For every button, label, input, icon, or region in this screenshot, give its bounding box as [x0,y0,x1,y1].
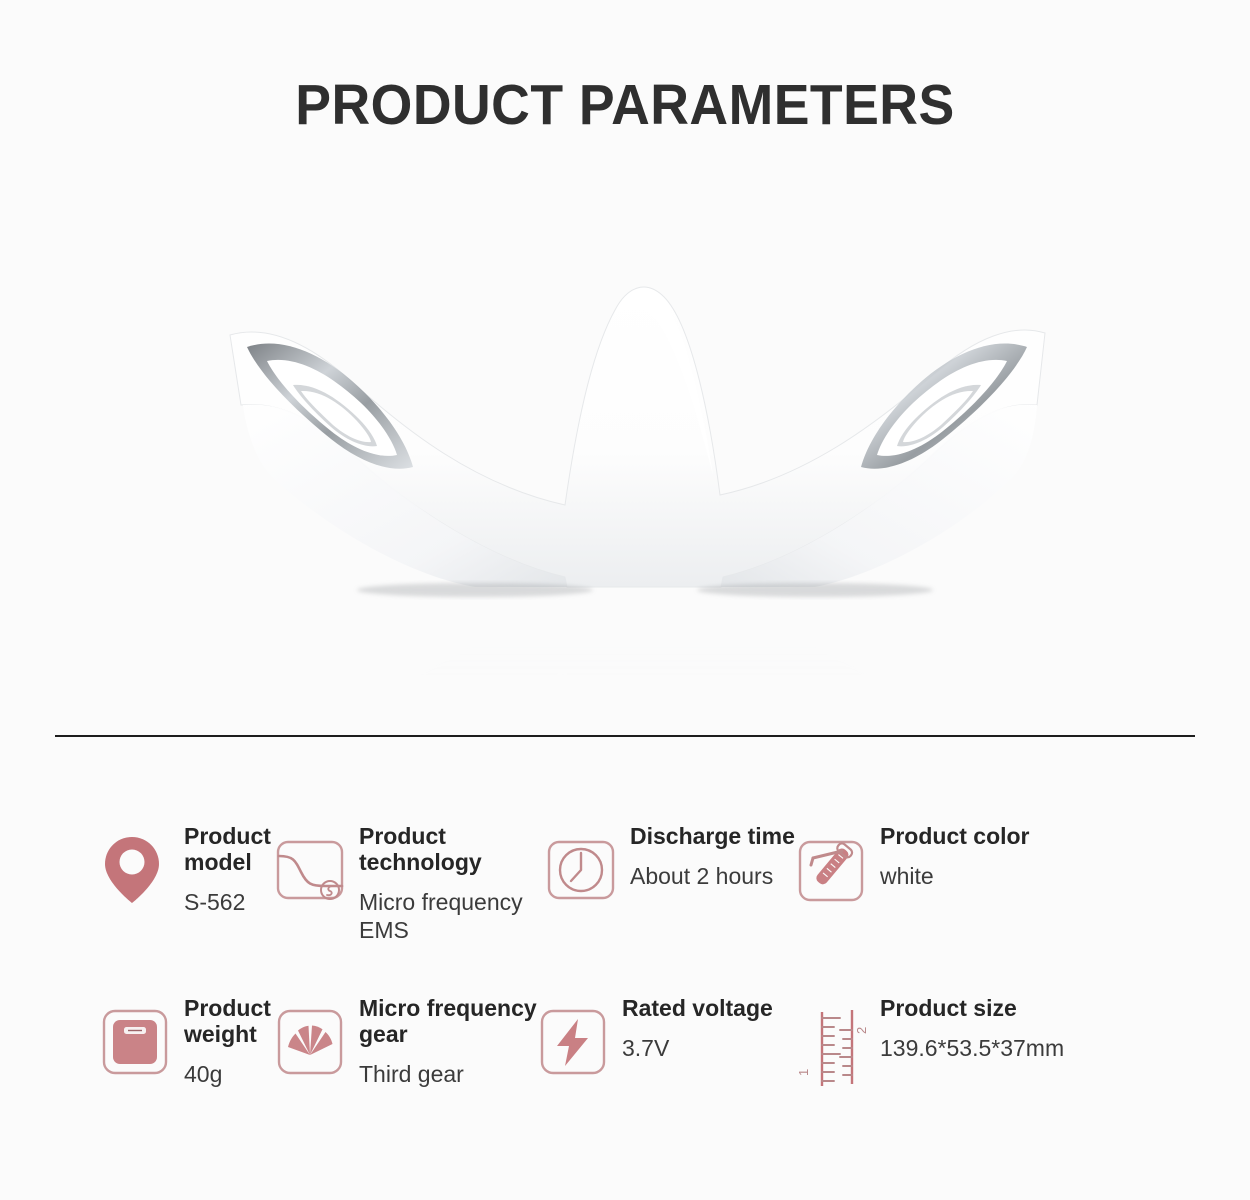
param-text-block: Product technology Micro frequency EMS [359,812,538,944]
product-photo-v-shape-ems-device [175,205,1075,675]
clock-icon [546,834,618,906]
param-product-model: Product model S-562 [0,812,275,916]
param-value: S-562 [184,888,275,916]
param-text-block: Discharge time About 2 hours [630,812,795,890]
location-pin-icon [100,834,172,906]
param-micro-frequency-gear: Micro frequency gear Third gear [275,984,538,1088]
ruler-icon: 1 2 [796,1006,868,1078]
param-text-block: Product model S-562 [184,812,275,916]
lightning-bolt-icon [538,1006,610,1078]
param-rated-voltage: Rated voltage 3.7V [538,984,796,1078]
paint-roller-icon [796,834,868,906]
param-label: Product model [184,824,275,876]
param-text-block: Product weight 40g [184,984,275,1088]
wave-signal-icon [275,834,347,906]
param-product-weight: Product weight 40g [0,984,275,1088]
ruler-label-2: 2 [854,1027,869,1034]
fan-gauge-icon [275,1006,347,1078]
param-value: Third gear [359,1060,538,1088]
param-label: Product size [880,996,1064,1022]
param-product-size: 1 2 Product size 139.6*53.5*37mm [796,984,1096,1078]
section-divider [55,735,1195,737]
product-parameters-grid: Product model S-562 Product technology M… [0,812,1250,1156]
product-image-stage [0,175,1250,695]
param-value: 3.7V [622,1034,773,1062]
param-label: Discharge time [630,824,795,850]
param-label: Micro frequency gear [359,996,538,1048]
param-text-block: Product size 139.6*53.5*37mm [880,984,1064,1062]
ruler-label-1: 1 [796,1069,811,1076]
param-product-technology: Product technology Micro frequency EMS [275,812,538,944]
page-title: PRODUCT PARAMETERS [38,72,1213,138]
param-value: 139.6*53.5*37mm [880,1034,1064,1062]
param-text-block: Micro frequency gear Third gear [359,984,538,1088]
parameters-row-1: Product model S-562 Product technology M… [0,812,1250,984]
param-product-color: Product color white [796,812,1096,906]
parameters-row-2: Product weight 40g Micro frequency ge [0,984,1250,1156]
param-value: 40g [184,1060,275,1088]
param-label: Rated voltage [622,996,773,1022]
param-label: Product color [880,824,1030,850]
param-value: white [880,862,1030,890]
param-label: Product technology [359,824,538,876]
param-value: About 2 hours [630,862,795,890]
param-label: Product weight [184,996,275,1048]
param-value: Micro frequency EMS [359,888,538,944]
param-text-block: Product color white [880,812,1030,890]
param-discharge-time: Discharge time About 2 hours [538,812,796,906]
param-text-block: Rated voltage 3.7V [622,984,773,1062]
weight-scale-icon [100,1006,172,1078]
